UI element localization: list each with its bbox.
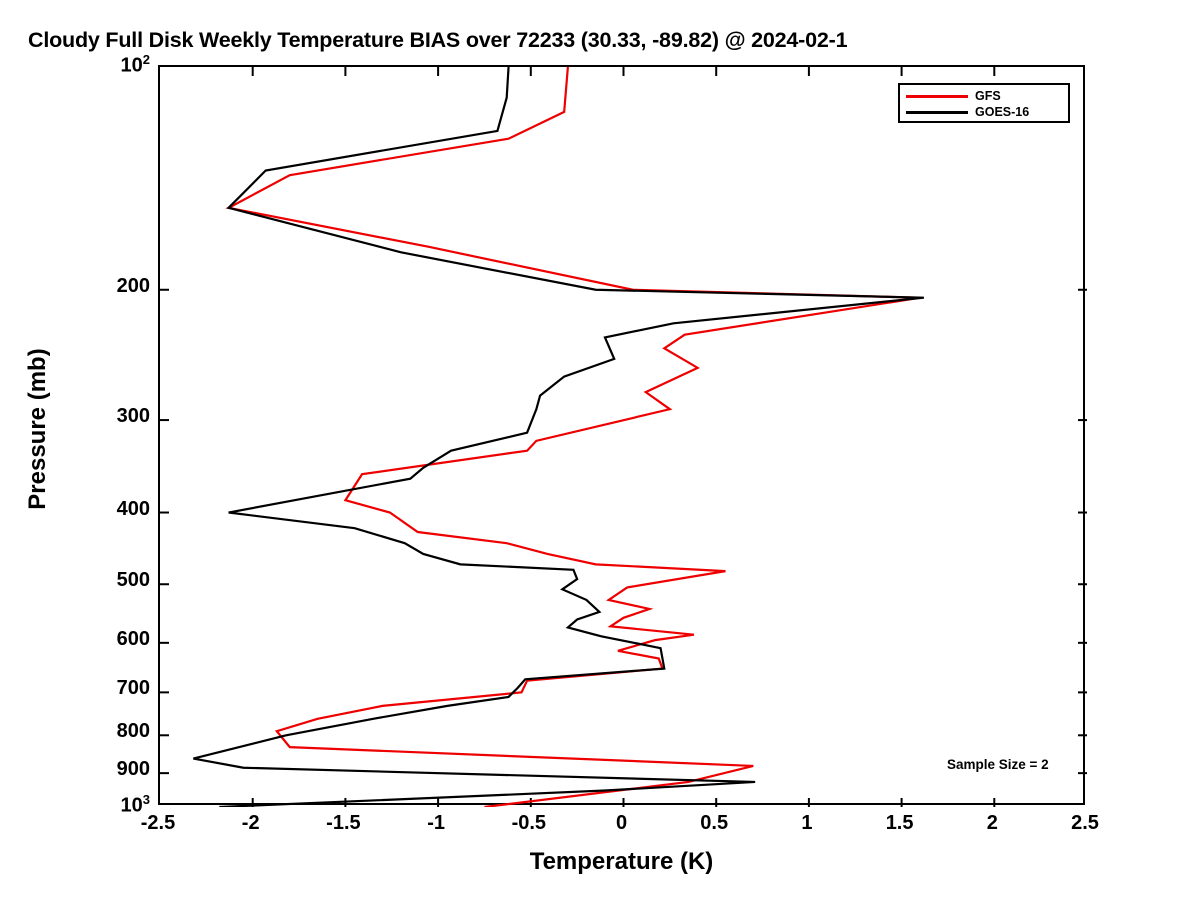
x-tick-label: -2.5 [118,812,198,835]
y-tick-label: 700 [117,677,150,700]
y-tick-label: 900 [117,758,150,781]
plot-lines [160,67,1087,807]
y-tick-label: 400 [117,498,150,521]
legend-swatch-gfs [906,95,968,98]
y-tick-label: 102 [121,52,150,78]
y-tick-label: 600 [117,628,150,651]
legend-item-gfs: GFS [906,88,1062,104]
x-tick-label: 2.5 [1045,812,1125,835]
legend-swatch-goes16 [906,111,968,114]
chart-title: Cloudy Full Disk Weekly Temperature BIAS… [28,28,1200,53]
y-tick-label: 800 [117,720,150,743]
legend-label-goes16: GOES-16 [975,105,1029,119]
chart-legend: GFS GOES-16 [898,83,1070,123]
series-line [229,67,921,807]
x-tick-label: 0.5 [674,812,754,835]
legend-label-gfs: GFS [975,89,1001,103]
x-axis-tick-labels: -2.5-2-1.5-1-0.500.511.522.5 [0,812,1200,852]
x-tick-label: -1.5 [303,812,383,835]
chart-figure: Cloudy Full Disk Weekly Temperature BIAS… [0,0,1200,900]
legend-item-goes16: GOES-16 [906,104,1062,120]
x-tick-label: 2 [952,812,1032,835]
y-tick-label: 500 [117,569,150,592]
x-tick-label: 0 [582,812,662,835]
x-tick-label: -2 [211,812,291,835]
sample-size-annotation: Sample Size = 2 [947,757,1049,772]
plot-area [158,65,1085,805]
x-tick-label: -0.5 [489,812,569,835]
y-tick-label: 200 [117,275,150,298]
series-line [193,67,923,807]
x-tick-label: -1 [396,812,476,835]
y-axis-tick-labels: 102200300400500600700800900103 [40,0,150,900]
y-tick-label: 300 [117,405,150,428]
x-axis-label: Temperature (K) [158,848,1085,876]
x-tick-label: 1.5 [860,812,940,835]
x-tick-label: 1 [767,812,847,835]
